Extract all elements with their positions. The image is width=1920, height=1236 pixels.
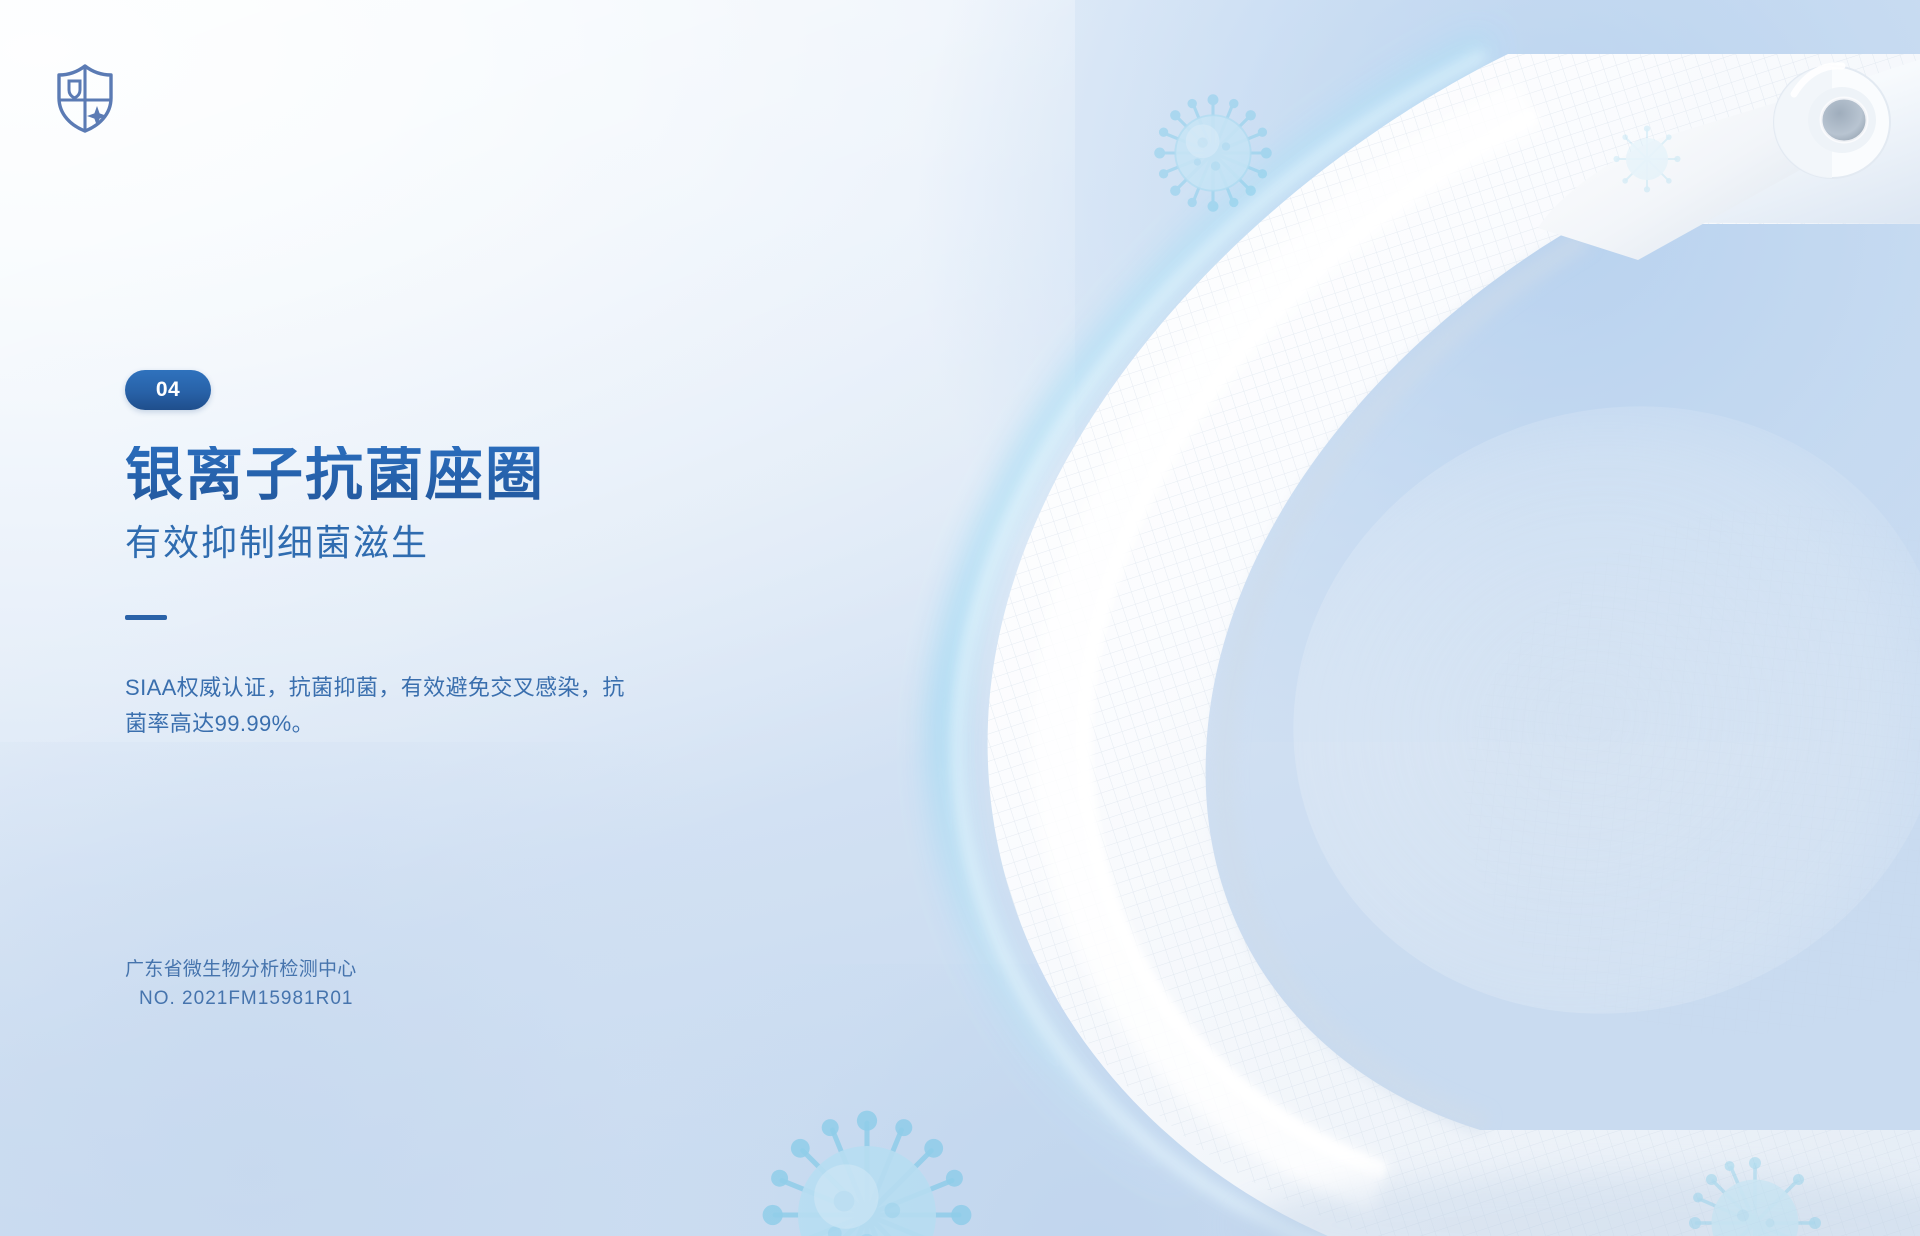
certification-footer: 广东省微生物分析检测中心 NO. 2021FM15981R01 [125,955,357,1014]
certification-number: NO. 2021FM15981R01 [125,984,357,1013]
content-block: 04 银离子抗菌座圈 有效抑制细菌滋生 SIAA权威认证，抗菌抑菌，有效避免交叉… [125,370,765,742]
divider [125,615,167,620]
coronavirus-icon [1148,88,1278,218]
page-title: 银离子抗菌座圈 [125,446,765,504]
body-description: SIAA权威认证，抗菌抑菌，有效避免交叉感染，抗菌率高达99.99%。 [125,670,645,741]
coronavirus-icon [1608,120,1686,198]
background-tint-bottom-center [576,964,1613,1236]
coronavirus-icon [1680,1148,1830,1236]
background-tint-top-right [845,0,1920,742]
toilet-seat-ring-image [860,10,1920,1236]
slide-canvas: 04 银离子抗菌座圈 有效抑制细菌滋生 SIAA权威认证，抗菌抑菌，有效避免交叉… [0,0,1920,1236]
page-subtitle: 有效抑制细菌滋生 [125,522,765,563]
coronavirus-icon [752,1100,982,1236]
step-number-badge: 04 [125,370,211,410]
shield-sparkle-icon [52,62,118,134]
certification-authority: 广东省微生物分析检测中心 [125,955,357,984]
